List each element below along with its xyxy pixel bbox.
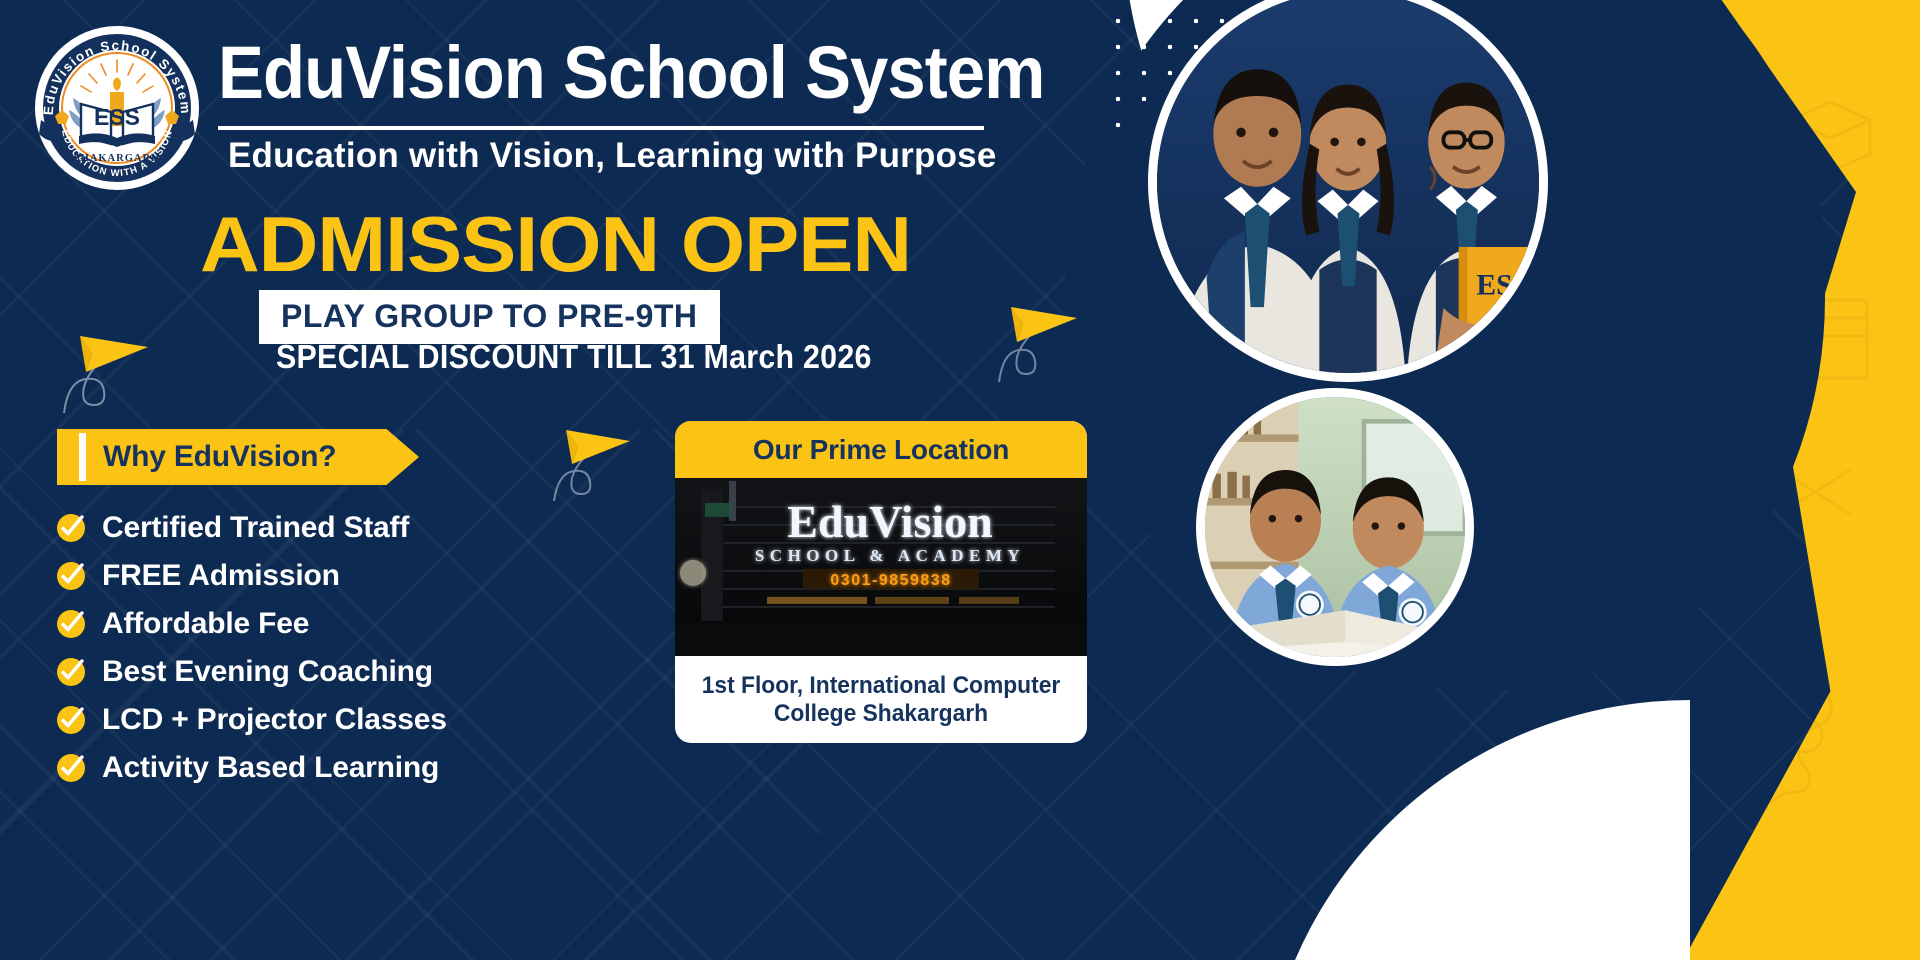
feature-label: FREE Admission [102,559,340,593]
check-circle-icon [56,705,86,735]
check-circle-icon [56,561,86,591]
check-circle-icon [56,609,86,639]
list-item: Best Evening Coaching [56,652,447,692]
feature-label: Best Evening Coaching [102,655,433,689]
svg-text:EduVision: EduVision [787,496,992,547]
list-item: Affordable Fee [56,604,447,644]
svg-text:0301-9859838: 0301-9859838 [830,572,951,589]
page-title: EduVision School System [218,36,1044,110]
students-reading-photo [1196,388,1474,666]
svg-text:ESS: ESS [94,104,140,130]
feature-label: Activity Based Learning [102,751,439,785]
location-card: Our Prime Location EduVision [675,421,1087,743]
students-group-photo: ESS [1148,0,1548,382]
feature-list: Certified Trained Staff FREE Admission A… [56,508,447,796]
why-title: Why EduVision? [103,440,336,474]
paper-plane-icon [48,300,158,435]
feature-label: Certified Trained Staff [102,511,409,545]
svg-text:SHAKARGARH: SHAKARGARH [74,153,160,164]
tagline: Education with Vision, Learning with Pur… [228,136,997,176]
check-circle-icon [56,513,86,543]
why-section: Why EduVision? [57,429,419,485]
admission-headline: ADMISSION OPEN [200,205,911,283]
list-item: Activity Based Learning [56,748,447,788]
list-item: LCD + Projector Classes [56,700,447,740]
white-curve-bottom [1260,700,1690,960]
location-address: 1st Floor, International Computer Colleg… [685,656,1076,743]
list-item: Certified Trained Staff [56,508,447,548]
school-logo: EduVision School System EDUCATION WITH A… [33,24,201,192]
discount-notice: SPECIAL DISCOUNT TILL 31 March 2026 [276,338,872,376]
ribbon-accent-bar [79,433,86,481]
paper-plane-icon [540,400,640,525]
check-circle-icon [56,753,86,783]
admission-banner: ESS [0,0,1920,960]
location-title: Our Prime Location [675,421,1087,478]
signboard-photo: EduVision SCHOOL & ACADEMY 0301-9859838 [675,478,1087,656]
paper-plane-icon [985,275,1085,410]
feature-label: Affordable Fee [102,607,309,641]
why-ribbon: Why EduVision? [57,429,419,485]
svg-text:SCHOOL & ACADEMY: SCHOOL & ACADEMY [755,546,1025,565]
grade-range-badge: PLAY GROUP TO PRE-9TH [259,290,720,344]
title-divider [218,126,984,130]
check-circle-icon [56,657,86,687]
list-item: FREE Admission [56,556,447,596]
feature-label: LCD + Projector Classes [102,703,447,737]
